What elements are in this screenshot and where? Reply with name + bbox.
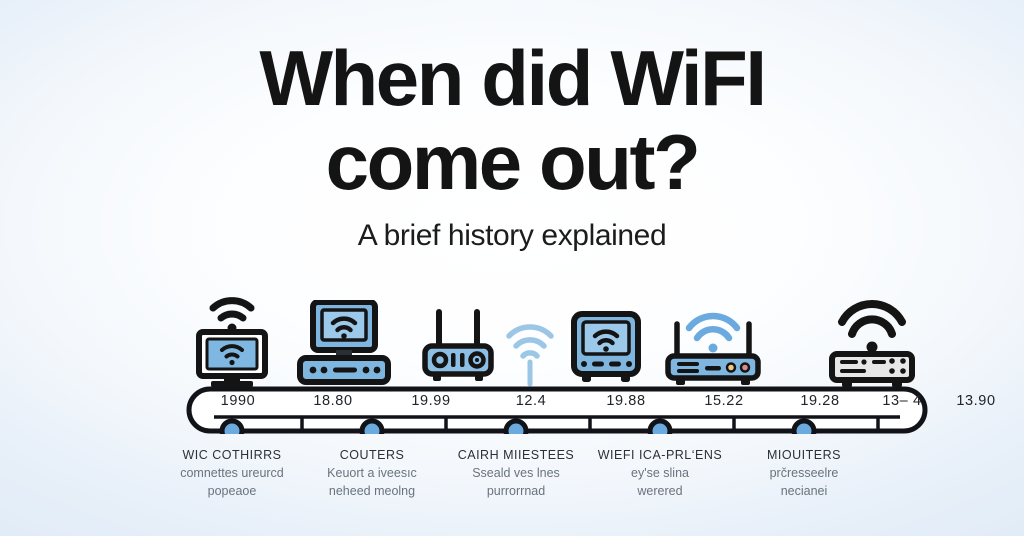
modem-box-wifi-icon [568, 308, 644, 388]
caption-row: WIC COTHIRRS comnettes ureurcd popeaoe C… [186, 448, 928, 526]
caption-heading: WIEFI ICA-PRL‘ENS [585, 448, 735, 464]
caption-heading: WIC COTHIRRS [157, 448, 307, 464]
timeline-bar: 1990 18.80 19.99 12.4 19.88 15.22 19.28 … [186, 386, 928, 434]
caption-line-1: prčresseelre [729, 464, 879, 482]
timeline-caption-1: COUTERS Keuort a iveesıc neheed meolng [297, 448, 447, 500]
caption-line-1: ey'se slina [585, 464, 735, 482]
gateway-modem-wifi-icon [826, 296, 918, 388]
caption-line-1: Sseald ves lnes [441, 464, 591, 482]
timeline-year-5: 15.22 [704, 393, 743, 409]
caption-line-1: Keuort a iveesıc [297, 464, 447, 482]
device-icon-row [186, 288, 926, 388]
caption-line-2: purrorrnad [441, 482, 591, 500]
infographic-root: When did WiFI come out? A brief history … [0, 0, 1024, 536]
caption-heading: COUTERS [297, 448, 447, 464]
caption-line-2: popeaoe [157, 482, 307, 500]
caption-heading: CAIRH MIIESTEES [441, 448, 591, 464]
caption-line-2: necianei [729, 482, 879, 500]
timeline-caption-0: WIC COTHIRRS comnettes ureurcd popeaoe [157, 448, 307, 500]
wireless-router-wide-icon [663, 300, 763, 388]
timeline-caption-4: MIOUITERS prčresseelre necianei [729, 448, 879, 500]
crt-monitor-wifi-icon [189, 290, 275, 388]
caption-line-1: comnettes ureurcd [157, 464, 307, 482]
caption-line-2: werered [585, 482, 735, 500]
timeline-year-3: 12.4 [516, 393, 547, 409]
timeline-year-0: 1990 [221, 393, 256, 409]
caption-line-2: neheed meolng [297, 482, 447, 500]
timeline-year-8: 13.90 [956, 393, 995, 409]
router-two-antenna-icon [419, 306, 497, 388]
timeline-year-2: 19.99 [411, 393, 450, 409]
page-title-line-1: When did WiFI [0, 40, 1024, 116]
desktop-computer-wifi-icon [296, 300, 392, 388]
caption-heading: MIOUITERS [729, 448, 879, 464]
wifi-signal-tower-icon [500, 314, 560, 388]
timeline-year-4: 19.88 [606, 393, 645, 409]
page-title-line-2: come out? [0, 124, 1024, 200]
title-block: When did WiFI come out? [0, 40, 1024, 201]
timeline-caption-3: WIEFI ICA-PRL‘ENS ey'se slina werered [585, 448, 735, 500]
timeline-caption-2: CAIRH MIIESTEES Sseald ves lnes purrorrn… [441, 448, 591, 500]
timeline-year-6: 19.28 [800, 393, 839, 409]
timeline-year-7: 13– 4 [882, 393, 921, 409]
timeline-year-1: 18.80 [313, 393, 352, 409]
page-subtitle: A brief history explained [0, 219, 1024, 253]
